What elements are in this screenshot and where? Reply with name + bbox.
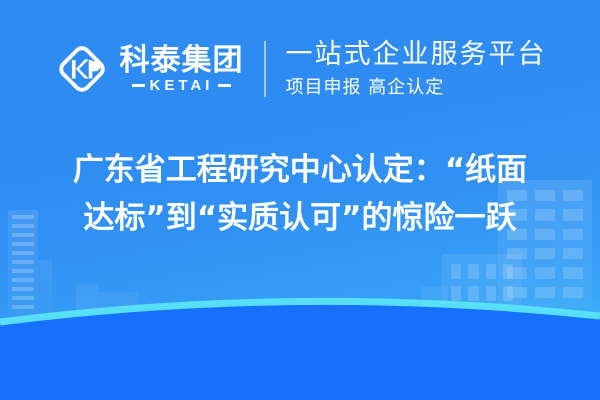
bottom-wave-decoration [0, 270, 600, 400]
brand-name-en: KETAI [150, 78, 214, 93]
page-title: 广东省工程研究中心认定：“纸面 达标”到“实质认可”的惊险一跃 [0, 146, 600, 242]
banner-header: 科泰集团 KETAI 一站式企业服务平台 项目申报 高企认定 [0, 30, 600, 108]
header-divider [264, 41, 266, 97]
brand-lockup: 科泰集团 KETAI [54, 41, 244, 97]
title-line-1: 广东省工程研究中心认定：“纸面 [26, 146, 574, 194]
dash-left-icon [132, 84, 145, 87]
promo-banner: 科泰集团 KETAI 一站式企业服务平台 项目申报 高企认定 广东省工程研究中心… [0, 0, 600, 400]
dash-right-icon [218, 84, 231, 87]
tagline-sub: 项目申报 高企认定 [286, 76, 547, 99]
brand-name-cn: 科泰集团 [120, 45, 244, 77]
tagline-block: 一站式企业服务平台 项目申报 高企认定 [286, 39, 547, 100]
ketai-diamond-kp-logo-icon [54, 41, 110, 97]
brand-name-en-row: KETAI [132, 78, 232, 93]
tagline-main: 一站式企业服务平台 [286, 39, 547, 71]
title-line-2: 达标”到“实质认可”的惊险一跃 [26, 194, 574, 242]
brand-wordmark: 科泰集团 KETAI [120, 45, 244, 94]
